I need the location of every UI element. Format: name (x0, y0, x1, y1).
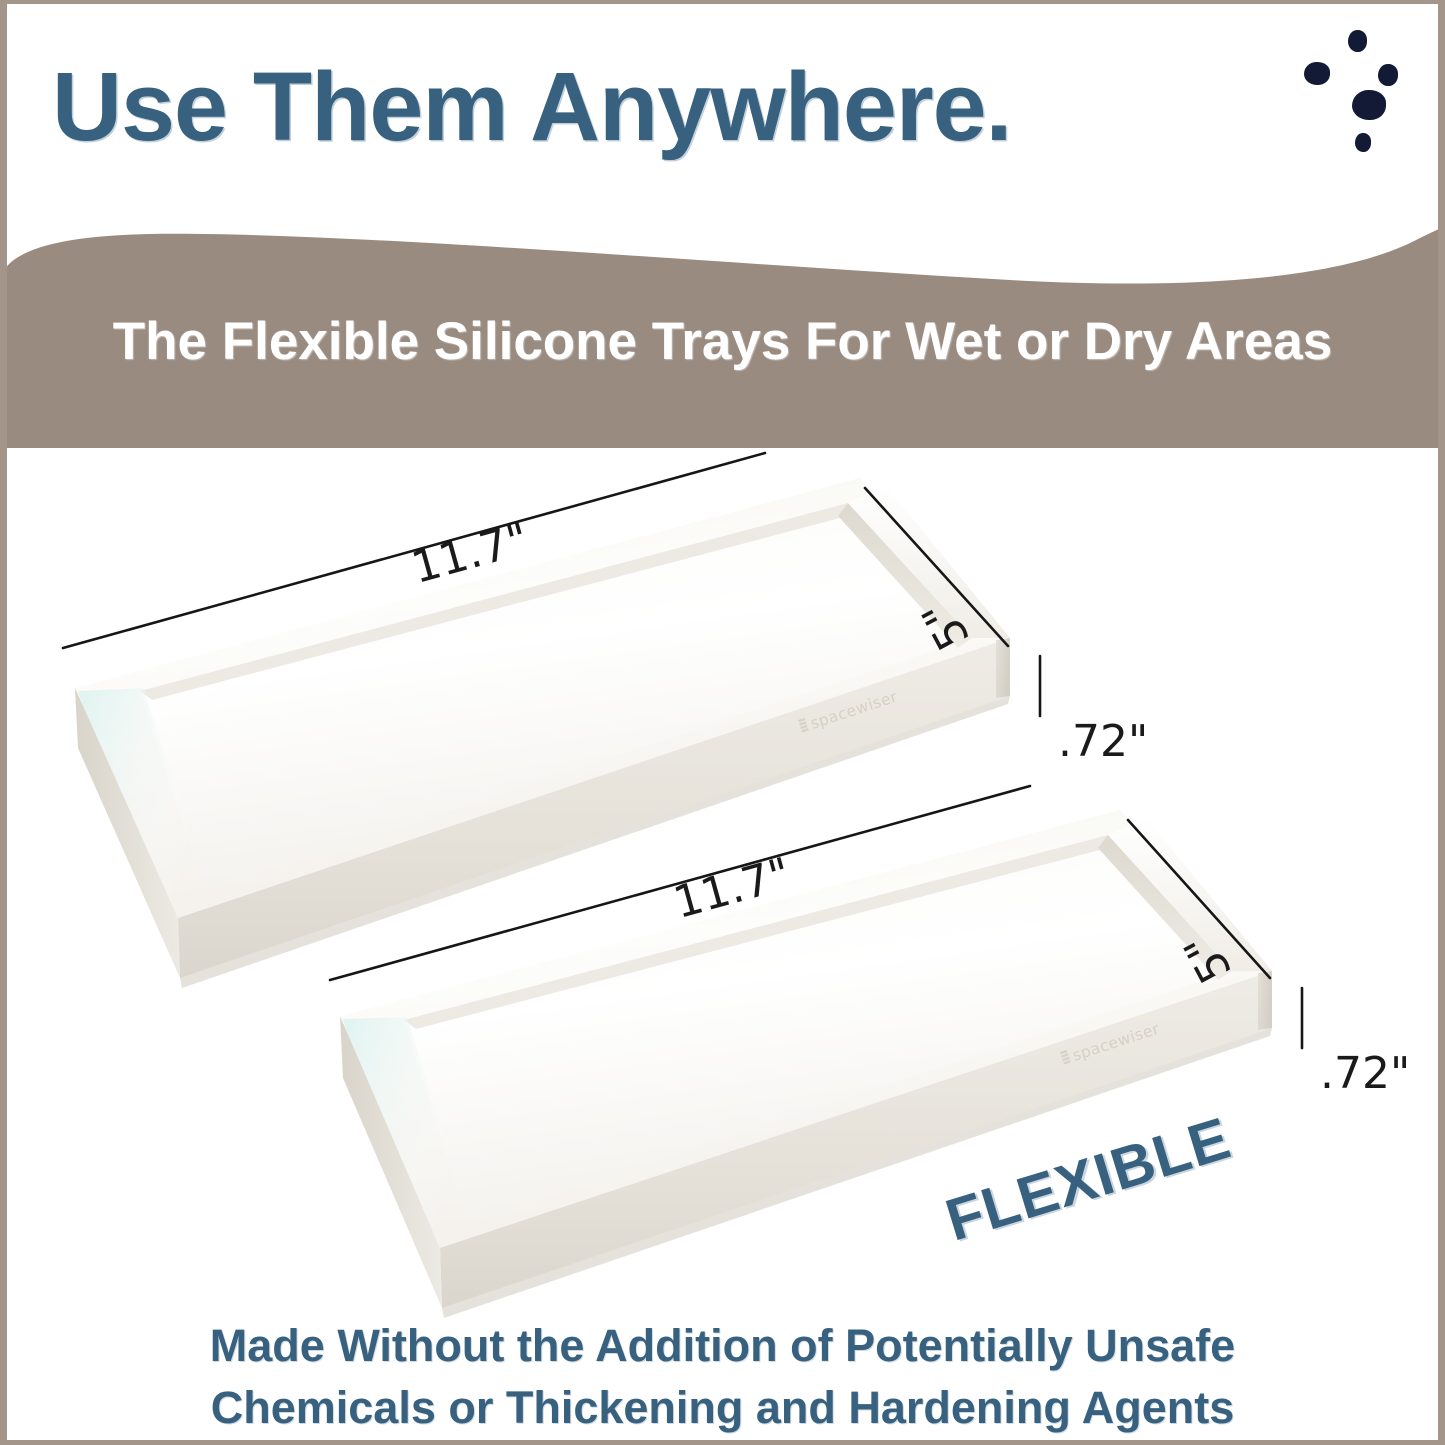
footer-copy: Made Without the Addition of Potentially… (0, 1315, 1445, 1439)
decorative-dot-2 (1304, 62, 1330, 85)
frame-border-top (0, 0, 1445, 4)
tray-bottom-graphic: spacewiser (340, 810, 1272, 1318)
dimension-height-top: .72" (1058, 716, 1148, 767)
dimension-height-bottom: .72" (1320, 1048, 1410, 1099)
decorative-dots-cluster (1300, 28, 1430, 188)
page-title: Use Them Anywhere. (52, 56, 1011, 158)
decorative-dot-4 (1352, 90, 1386, 120)
frame-border-bottom (0, 1440, 1445, 1445)
banner-subtitle: The Flexible Silicone Trays For Wet or D… (0, 311, 1445, 372)
decorative-dot-5 (1355, 133, 1371, 152)
subtitle-banner: The Flexible Silicone Trays For Wet or D… (0, 218, 1445, 448)
footer-line-2: Chemicals or Thickening and Hardening Ag… (0, 1377, 1445, 1439)
footer-line-1: Made Without the Addition of Potentially… (0, 1315, 1445, 1377)
product-infographic: Use Them Anywhere. The Flexible Silicone… (0, 0, 1445, 1445)
product-scene: spacewiser (0, 448, 1445, 1328)
decorative-dot-3 (1378, 64, 1398, 86)
decorative-dot-1 (1348, 30, 1367, 52)
